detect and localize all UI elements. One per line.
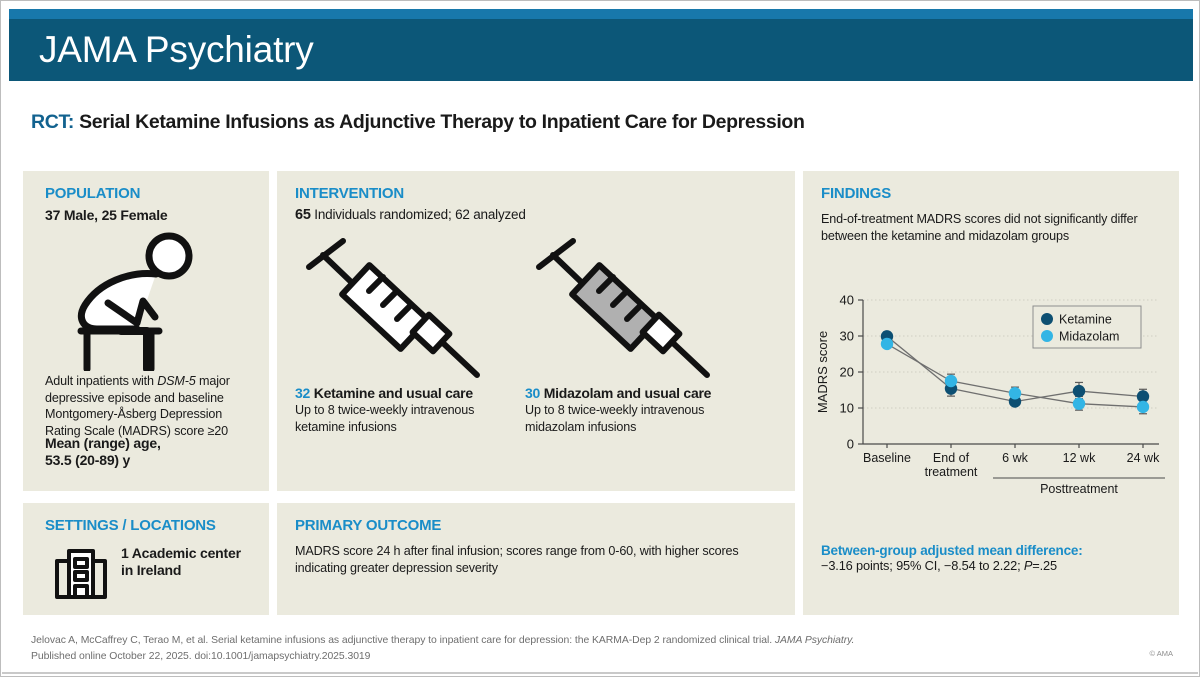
bottom-rule	[2, 672, 1198, 674]
between-group-value: −3.16 points; 95% CI, −8.54 to 2.22; P=.…	[821, 558, 1169, 573]
intervention-arm-ketamine: 32 Ketamine and usual care Up to 8 twice…	[295, 385, 520, 435]
arm-ketamine-detail: Up to 8 twice-weekly intravenous ketamin…	[295, 402, 520, 435]
svg-text:Baseline: Baseline	[863, 451, 911, 465]
syringe-icon-filled	[525, 235, 725, 385]
headline-text: Serial Ketamine Infusions as Adjunctive …	[79, 111, 804, 133]
svg-text:24 wk: 24 wk	[1127, 451, 1160, 465]
svg-text:Posttreatment: Posttreatment	[1040, 482, 1118, 496]
svg-text:20: 20	[840, 365, 854, 380]
intervention-card: INTERVENTION 65 Individuals randomized; …	[277, 171, 795, 491]
arm-midazolam-detail: Up to 8 twice-weekly intravenous midazol…	[525, 402, 750, 435]
masthead-bar: JAMA Psychiatry	[9, 19, 1193, 81]
syringe-icon-clear	[295, 235, 495, 385]
findings-card-title: FINDINGS	[821, 185, 891, 202]
svg-text:End of: End of	[933, 451, 970, 465]
svg-text:treatment: treatment	[925, 465, 978, 479]
svg-text:0: 0	[847, 437, 854, 452]
hospital-building-icon	[53, 545, 109, 601]
primary-outcome-text: MADRS score 24 h after final infusion; s…	[295, 543, 777, 576]
population-card-title: POPULATION	[45, 185, 140, 202]
svg-text:30: 30	[840, 329, 854, 344]
primary-outcome-card-title: PRIMARY OUTCOME	[295, 517, 441, 534]
population-card: POPULATION 37 Male, 25 Female Adult inpa…	[23, 171, 269, 491]
masthead-accent-strip	[9, 9, 1193, 19]
journal-title: JAMA Psychiatry	[39, 29, 314, 71]
settings-text: 1 Academic center in Ireland	[121, 545, 251, 579]
svg-text:MADRS score: MADRS score	[815, 331, 830, 413]
between-group-difference: Between-group adjusted mean difference: …	[821, 543, 1169, 573]
svg-text:6 wk: 6 wk	[1002, 451, 1028, 465]
primary-outcome-card: PRIMARY OUTCOME MADRS score 24 h after f…	[277, 503, 795, 615]
madrs-line-chart-svg: 010203040MADRS scoreBaselineEnd oftreatm…	[811, 286, 1171, 501]
study-type-label: RCT:	[31, 111, 74, 133]
visual-abstract-page: JAMA Psychiatry RCT: Serial Ketamine Inf…	[0, 0, 1200, 677]
findings-subtitle: End-of-treatment MADRS scores did not si…	[821, 211, 1169, 244]
population-age: Mean (range) age, 53.5 (20-89) y	[45, 435, 257, 469]
population-sex-split: 37 Male, 25 Female	[45, 207, 167, 223]
seated-person-icon	[51, 231, 241, 371]
svg-text:Midazolam: Midazolam	[1059, 330, 1119, 344]
citation-footer: Jelovac A, McCaffrey C, Terao M, et al. …	[31, 633, 1121, 664]
page-title: RCT: Serial Ketamine Infusions as Adjunc…	[31, 111, 1171, 134]
intervention-card-title: INTERVENTION	[295, 185, 404, 202]
svg-text:10: 10	[840, 401, 854, 416]
svg-text:12 wk: 12 wk	[1063, 451, 1096, 465]
settings-card: SETTINGS / LOCATIONS 1 Academic center i…	[23, 503, 269, 615]
madrs-score-chart: 010203040MADRS scoreBaselineEnd oftreatm…	[811, 286, 1171, 501]
settings-card-title: SETTINGS / LOCATIONS	[45, 517, 216, 534]
arm-midazolam-heading: 30 Midazolam and usual care	[525, 385, 750, 401]
between-group-label: Between-group adjusted mean difference:	[821, 543, 1169, 558]
population-description: Adult inpatients with DSM-5 major depres…	[45, 373, 255, 440]
arm-ketamine-heading: 32 Ketamine and usual care	[295, 385, 520, 401]
svg-text:40: 40	[840, 293, 854, 308]
intervention-enrollment: 65 Individuals randomized; 62 analyzed	[295, 207, 526, 223]
findings-card: FINDINGS End-of-treatment MADRS scores d…	[803, 171, 1179, 615]
intervention-arm-midazolam: 30 Midazolam and usual care Up to 8 twic…	[525, 385, 750, 435]
svg-text:Ketamine: Ketamine	[1059, 313, 1112, 327]
copyright-label: © AMA	[1150, 649, 1173, 658]
